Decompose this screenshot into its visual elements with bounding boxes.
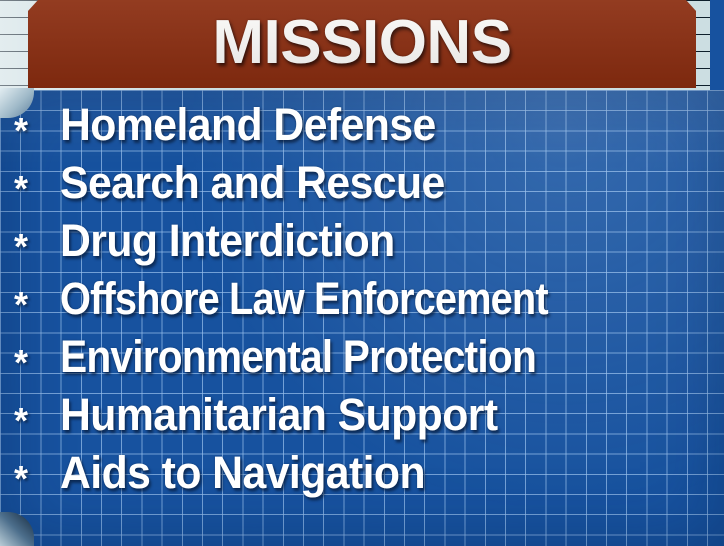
list-item: * Drug Interdiction	[0, 212, 724, 270]
slide-canvas: MISSIONS * Homeland Defense * Search and…	[0, 0, 724, 546]
mission-label: Aids to Navigation	[60, 447, 425, 499]
list-item: * Humanitarian Support	[0, 386, 724, 444]
mission-label: Homeland Defense	[60, 99, 436, 151]
list-item: * Aids to Navigation	[0, 444, 724, 502]
mission-label: Environmental Protection	[60, 331, 536, 383]
mission-label: Search and Rescue	[60, 157, 445, 209]
mission-label: Humanitarian Support	[60, 389, 498, 441]
list-item: * Search and Rescue	[0, 154, 724, 212]
asterisk-bullet-icon: *	[14, 171, 60, 207]
list-item: * Environmental Protection	[0, 328, 724, 386]
asterisk-bullet-icon: *	[14, 287, 60, 323]
right-edge-blue-sliver	[710, 0, 724, 95]
page-title: MISSIONS	[28, 6, 696, 80]
title-banner: MISSIONS	[28, 0, 696, 88]
asterisk-bullet-icon: *	[14, 345, 60, 381]
mission-label: Offshore Law Enforcement	[60, 273, 548, 325]
asterisk-bullet-icon: *	[14, 229, 60, 265]
mission-label: Drug Interdiction	[60, 215, 395, 267]
list-item: * Offshore Law Enforcement	[0, 270, 724, 328]
asterisk-bullet-icon: *	[14, 461, 60, 497]
asterisk-bullet-icon: *	[14, 403, 60, 439]
list-item: * Homeland Defense	[0, 96, 724, 154]
missions-list: * Homeland Defense * Search and Rescue *…	[0, 96, 724, 502]
asterisk-bullet-icon: *	[14, 113, 60, 149]
